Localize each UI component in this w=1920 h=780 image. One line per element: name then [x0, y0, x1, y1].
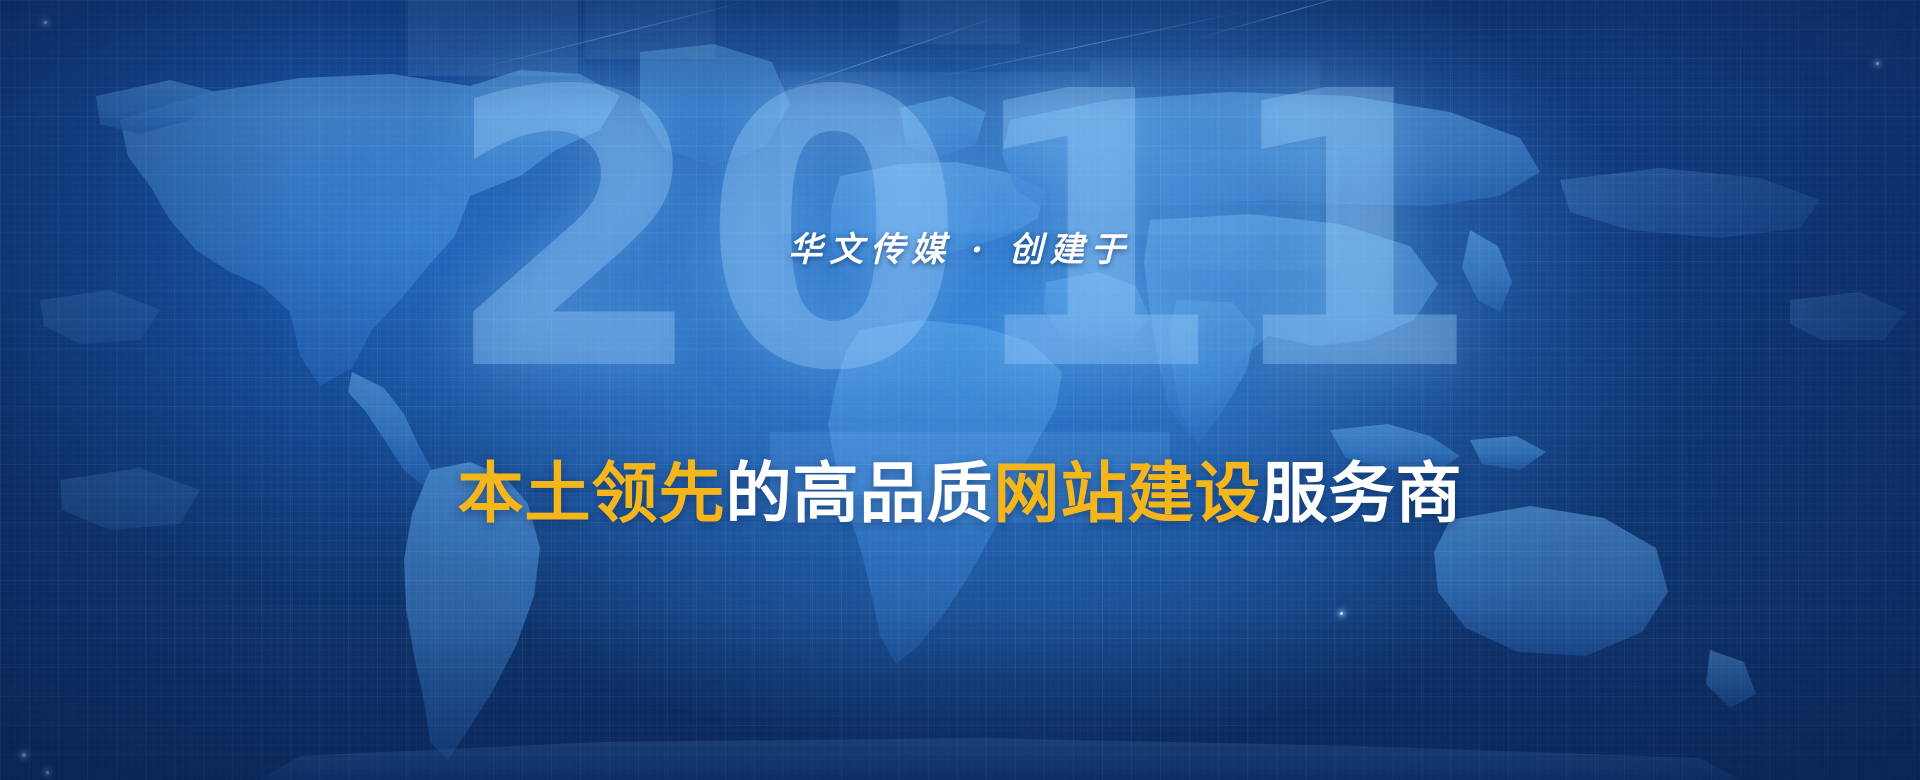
- headline-segment-2: 的高品质: [726, 455, 994, 532]
- world-map-background: [0, 0, 1920, 780]
- headline-segment-3: 网站建设: [994, 455, 1262, 532]
- hero-banner: 2011 华文传媒 · 创建于 本土领先的高品质网站建设服务商: [0, 0, 1920, 780]
- headline-segment-1: 本土领先: [458, 455, 726, 532]
- banner-tagline: 华文传媒 · 创建于: [0, 222, 1920, 271]
- banner-headline: 本土领先的高品质网站建设服务商: [0, 440, 1920, 536]
- headline-segment-4: 服务商: [1262, 455, 1463, 532]
